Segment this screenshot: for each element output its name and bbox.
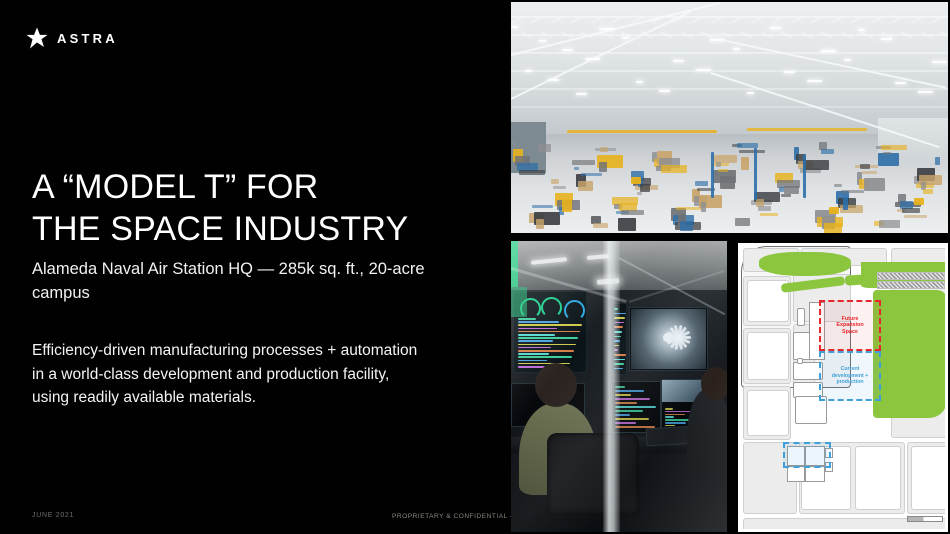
ceiling-lamp-3: [622, 37, 629, 39]
floor-equipment-92: [640, 184, 650, 192]
monitor-line-3: [615, 398, 650, 400]
factory-floor-photo: [511, 2, 948, 233]
greenspace-north: [759, 252, 851, 276]
engine-hub: [663, 333, 672, 342]
ceiling-lamp-17: [710, 39, 725, 41]
floor-equipment-110: [781, 194, 791, 197]
hatched-area-1: [877, 272, 945, 280]
brand-name: ASTRA: [57, 32, 118, 45]
floor-equipment-27: [935, 157, 940, 165]
ceiling-lamp-16: [673, 60, 684, 62]
telemetry-line-0: [518, 318, 536, 320]
telemetry-line-8: [518, 344, 576, 346]
floor-equipment-22: [735, 218, 750, 226]
floor-equipment-93: [680, 221, 693, 231]
floor-equipment-101: [923, 189, 933, 194]
map-building-1: [747, 332, 789, 380]
floor-equipment-94: [720, 176, 735, 189]
zone-secondary-production: [783, 442, 831, 468]
gantry-post-1: [754, 148, 757, 200]
map-structure-5: [797, 358, 803, 364]
floor-equipment-66: [758, 206, 771, 211]
monitor2-line-2: [665, 414, 685, 416]
floor-equipment-107: [661, 165, 687, 173]
floor-equipment-98: [803, 160, 829, 170]
zone-current-production-label: Current development + production: [832, 366, 868, 385]
floor-equipment-71: [881, 145, 907, 150]
ceiling-lamp-24: [539, 40, 546, 42]
floor-equipment-86: [902, 208, 920, 213]
floor-equipment-116: [519, 170, 545, 175]
floor-equipment-65: [718, 169, 728, 172]
ceiling-lamp-22: [895, 82, 906, 84]
floor-equipment-111: [821, 149, 834, 154]
telemetry-line-15: [518, 366, 545, 368]
map-building-4: [855, 446, 901, 510]
telemetry-line-13: [518, 360, 547, 362]
telemetry-line-11: [518, 353, 549, 355]
telemetry-line-7: [518, 340, 553, 342]
telemetry-line-2: [518, 324, 582, 326]
floor-equipment-90: [637, 192, 642, 195]
video-wall-screen: [629, 307, 708, 371]
floor-equipment-109: [741, 157, 749, 170]
operator-left-head: [535, 363, 577, 407]
floor-equipment-73: [536, 219, 544, 229]
ceiling-lamp-25: [576, 93, 587, 95]
yellow-machine-0: [914, 198, 924, 205]
body-copy: Efficiency-driven manufacturing processe…: [32, 339, 462, 410]
monitor-line-5: [615, 406, 656, 408]
footer-date: JUNE 2021: [32, 512, 74, 519]
floor-equipment-106: [621, 210, 644, 215]
zone-current-production: Current development + production: [819, 351, 881, 401]
map-canvas: Future Expansion Space Current developme…: [741, 246, 945, 529]
window-mullion: [603, 241, 620, 532]
star-icon: [26, 27, 48, 49]
operator-left-chair: [547, 433, 639, 515]
ceiling-lamp-0: [511, 26, 518, 28]
slide-root: ASTRA A “MODEL T” FOR THE SPACE INDUSTRY…: [0, 0, 950, 534]
floor-equipment-113: [824, 223, 842, 233]
ceiling-lamp-18: [747, 92, 754, 94]
floor-equipment-104: [618, 218, 636, 231]
ceiling-lamp-6: [733, 48, 740, 50]
floor-equipment-119: [562, 199, 572, 212]
map-building-2: [747, 390, 789, 436]
subtitle: Alameda Naval Air Station HQ — 285k sq. …: [32, 258, 462, 305]
telemetry-line-12: [518, 356, 572, 358]
floor-equipment-95: [760, 213, 778, 216]
campus-site-map: Future Expansion Space Current developme…: [736, 241, 950, 534]
ceiling-lamp-20: [821, 50, 836, 52]
status-bar-green: [511, 241, 518, 287]
floor-equipment-0: [511, 142, 516, 145]
floor-equipment-45: [574, 167, 579, 170]
operator-right-body: [687, 389, 727, 471]
gantry-post-2: [803, 154, 806, 198]
floor-equipment-85: [862, 171, 877, 174]
floor-equipment-30: [553, 186, 566, 189]
floor-equipment-15: [532, 205, 553, 208]
secondary-structure-2: [787, 466, 805, 482]
ceiling-lamp-5: [696, 69, 711, 71]
telemetry-line-9: [518, 347, 551, 349]
ceiling-lamp-21: [858, 29, 865, 31]
crane-rail-2: [747, 128, 867, 131]
monitor2-line-5: [665, 422, 686, 424]
roof-chord: [511, 70, 948, 72]
telemetry-line-10: [518, 350, 574, 352]
telemetry-line-6: [518, 337, 578, 339]
mission-control-photo: [511, 241, 727, 532]
roof-chord: [511, 88, 948, 90]
floor-equipment-114: [864, 178, 885, 191]
roof-chord: [511, 52, 948, 54]
gauge-1: [541, 297, 562, 318]
ceiling-lamp-14: [599, 28, 614, 30]
telemetry-line-4: [518, 331, 580, 333]
ceiling-lamp-23: [932, 61, 947, 63]
floor-equipment-118: [599, 162, 607, 172]
floor-equipment-16: [572, 160, 595, 165]
floor-equipment-21: [695, 181, 708, 186]
telemetry-line-5: [518, 334, 555, 336]
ceiling-lamp-19: [784, 71, 795, 73]
text-column: A “MODEL T” FOR THE SPACE INDUSTRY Alame…: [32, 166, 462, 410]
map-building-5: [911, 446, 945, 510]
roof-chord: [511, 106, 948, 108]
monitor2-line-3: [665, 416, 674, 418]
zone-future-expansion: Future Expansion Space: [819, 300, 881, 351]
monitor2-line-0: [665, 408, 673, 410]
ceiling-lamp-10: [881, 38, 892, 40]
page-title: A “MODEL T” FOR THE SPACE INDUSTRY: [32, 166, 462, 250]
map-structure-0: [797, 308, 805, 326]
floor-equipment-115: [904, 215, 927, 218]
ceiling-lamp-11: [918, 91, 933, 93]
ceiling-lamp-2: [585, 58, 600, 60]
yellow-machine-1: [829, 207, 839, 214]
floor-equipment-35: [676, 207, 702, 210]
ceiling-lamp-1: [548, 79, 559, 81]
zone-future-expansion-label: Future Expansion Space: [836, 316, 863, 336]
floor-equipment-103: [578, 181, 593, 191]
floor-equipment-36: [716, 162, 721, 167]
floor-equipment-80: [739, 150, 765, 153]
operator-right-head: [701, 367, 727, 400]
astra-logo: ASTRA: [26, 27, 118, 49]
floor-equipment-108: [701, 202, 706, 212]
gauge-2: [564, 300, 585, 321]
telemetry-line-1: [518, 321, 559, 323]
map-scale-tick: •: [917, 509, 918, 512]
crane-rail-1: [567, 130, 717, 133]
floor-equipment-70: [841, 190, 864, 193]
ceiling-lamp-8: [807, 80, 822, 82]
floor-equipment-56: [860, 164, 870, 169]
floor-equipment-31: [593, 223, 608, 228]
floor-equipment-99: [843, 197, 848, 210]
ceiling-lamp-15: [636, 81, 643, 83]
ceiling-lamp-4: [659, 90, 670, 92]
floor-equipment-10: [834, 184, 842, 187]
telemetry-line-3: [518, 328, 557, 330]
ceiling-lamp-12: [525, 70, 532, 72]
floor-equipment-91: [600, 147, 608, 152]
monitor-green-block: [511, 287, 527, 317]
floor-equipment-1: [551, 179, 559, 184]
floor-equipment-100: [883, 152, 891, 155]
floor-equipment-112: [784, 186, 799, 194]
ceiling-lamp-9: [844, 59, 851, 61]
ceiling-lamp-13: [562, 49, 573, 51]
monitor-line-8: [615, 418, 649, 420]
greenspace-east: [873, 290, 945, 418]
hatched-area-2: [877, 281, 945, 289]
floor-equipment-42: [879, 220, 900, 228]
floor-equipment-102: [538, 144, 551, 152]
yellow-machine-2: [631, 177, 641, 184]
secondary-structure-3: [805, 466, 825, 482]
gantry-post-0: [711, 152, 714, 198]
map-scale-bar: [907, 516, 943, 522]
floor-equipment-105: [581, 173, 602, 176]
ceiling-lamp-7: [770, 27, 781, 29]
